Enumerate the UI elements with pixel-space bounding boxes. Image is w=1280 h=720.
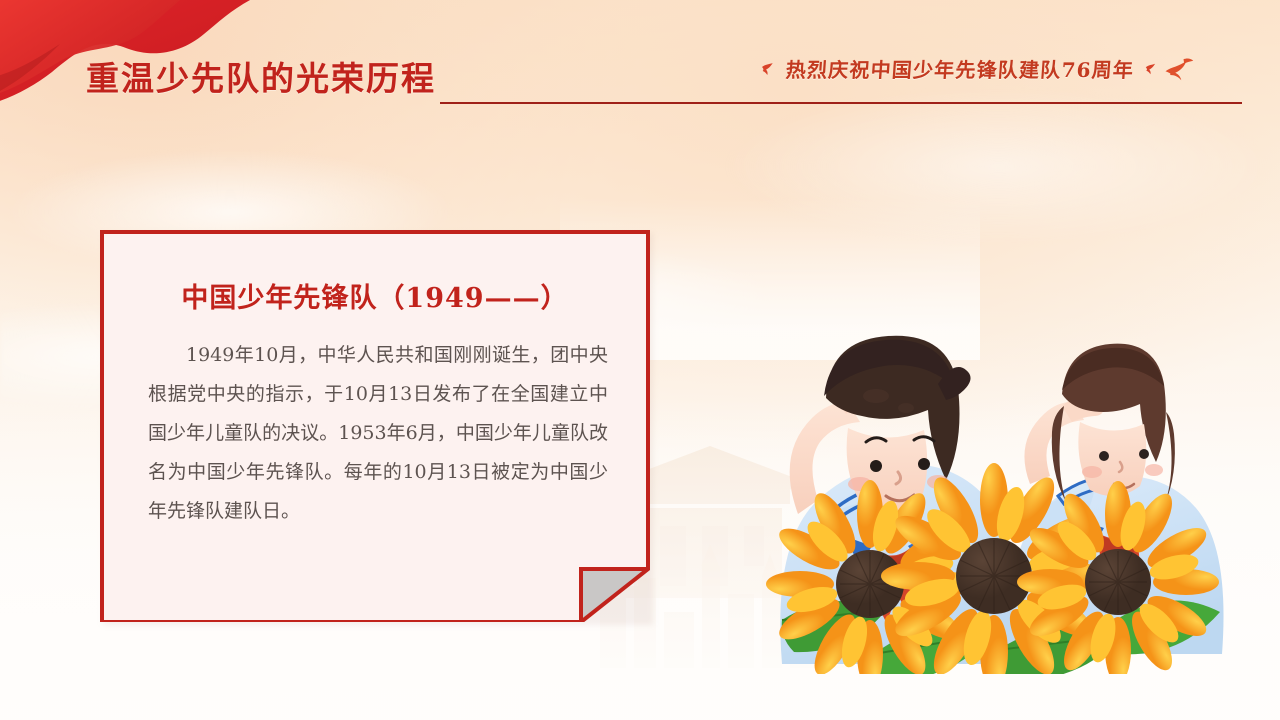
card-body: 中国少年先锋队（1949——） 1949年10月，中华人民共和国刚刚诞生，团中央… bbox=[100, 230, 650, 622]
slide-header: 重温少先队的光荣历程 热烈庆祝中国少年先锋队建队76周年 bbox=[0, 56, 1280, 116]
dove-group bbox=[1144, 57, 1194, 81]
dove-icon bbox=[760, 61, 776, 77]
pioneers-illustration bbox=[762, 184, 1232, 674]
dove-icon bbox=[1144, 62, 1158, 76]
celebration-banner: 热烈庆祝中国少年先锋队建队76周年 bbox=[760, 54, 1194, 83]
card-body-text: 1949年10月，中华人民共和国刚刚诞生，团中央根据党中央的指示，于10月13日… bbox=[148, 336, 608, 531]
title-divider bbox=[440, 102, 1242, 104]
dove-icon bbox=[1164, 57, 1194, 81]
content-card: 中国少年先锋队（1949——） 1949年10月，中华人民共和国刚刚诞生，团中央… bbox=[100, 230, 650, 622]
slide-root: 重温少先队的光荣历程 热烈庆祝中国少年先锋队建队76周年 bbox=[0, 0, 1280, 720]
card-heading: 中国少年先锋队（1949——） bbox=[100, 276, 650, 315]
page-title: 重温少先队的光荣历程 bbox=[86, 52, 436, 100]
banner-text: 热烈庆祝中国少年先锋队建队76周年 bbox=[785, 54, 1135, 83]
